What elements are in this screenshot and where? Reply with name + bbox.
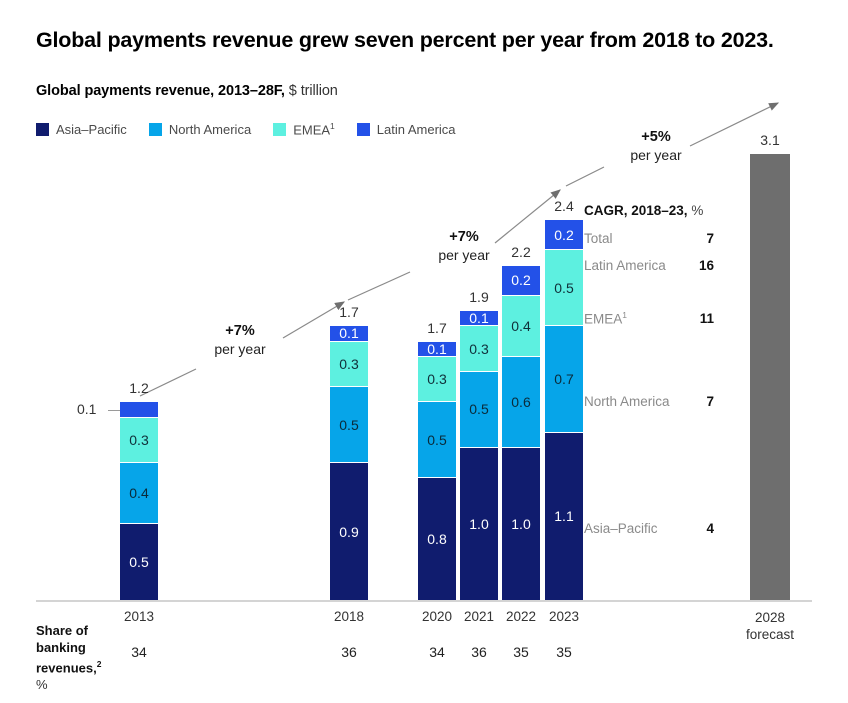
- x-axis-tick-2018: 2018: [314, 609, 384, 624]
- x-axis-tick-2028-qualifier: forecast: [735, 626, 805, 643]
- cagr-row-asia-pacific: Asia–Pacific4: [584, 521, 714, 536]
- bar-segment-value: 0.5: [339, 417, 358, 433]
- bar-segment-value: 0.1: [469, 310, 488, 326]
- bar-2018[interactable]: 0.10.30.50.9: [330, 326, 368, 600]
- share-of-banking-revenues-label: Share of banking revenues,2 %: [36, 623, 131, 693]
- bar-segment-value: 0.8: [427, 531, 446, 547]
- cagr-row-value: 16: [699, 258, 714, 273]
- bar-segment-value: 0.3: [339, 356, 358, 372]
- bar-segment-value: 0.5: [129, 554, 148, 570]
- bar-segment-2021-north-america[interactable]: 0.5: [460, 372, 498, 448]
- bar-segment-2018-north-america[interactable]: 0.5: [330, 387, 368, 463]
- growth-annotation-2: +7%per year: [420, 228, 508, 264]
- bar-2020[interactable]: 0.10.30.50.8: [418, 342, 456, 600]
- bar-2013[interactable]: 0.30.40.5: [120, 402, 158, 600]
- share-label-line2: banking: [36, 640, 86, 655]
- bar-segment-2013-emea[interactable]: 0.3: [120, 418, 158, 464]
- bar-segment-2013-asia-pacific[interactable]: 0.5: [120, 524, 158, 600]
- bar-outside-value-leader: [108, 410, 120, 411]
- cagr-row-label: EMEA1: [584, 310, 627, 327]
- bar-segment-value: 0.5: [554, 280, 573, 296]
- cagr-row-value: 7: [706, 394, 714, 409]
- growth-annotation-percent: +5%: [612, 128, 700, 146]
- bar-total-2021: 1.9: [449, 289, 509, 305]
- cagr-row-label: Total: [584, 231, 613, 246]
- share-value-545: 35: [529, 644, 599, 660]
- bar-total-2020: 1.7: [407, 320, 467, 336]
- cagr-header-unit: %: [688, 203, 704, 218]
- cagr-row-value: 11: [700, 311, 714, 326]
- cagr-row-north-america: North America7: [584, 394, 714, 409]
- bar-outside-value-2013: 0.1: [77, 401, 96, 417]
- bar-segment-value: 0.6: [511, 394, 530, 410]
- bar-segment-value: 0.3: [469, 341, 488, 357]
- cagr-row-value: 7: [706, 231, 714, 246]
- growth-annotation-period: per year: [420, 246, 508, 264]
- cagr-table-header: CAGR, 2018–23, %: [584, 203, 714, 218]
- bar-segment-value: 0.2: [554, 227, 573, 243]
- bar-segment-value: 0.7: [554, 371, 573, 387]
- share-value-330: 36: [314, 644, 384, 660]
- bar-segment-value: 0.9: [339, 524, 358, 540]
- bar-segment-value: 0.5: [427, 432, 446, 448]
- cagr-row-value: 4: [706, 521, 714, 536]
- bar-2023[interactable]: 0.20.50.71.1: [545, 220, 583, 600]
- bar-segment-2023-north-america[interactable]: 0.7: [545, 326, 583, 432]
- bar-segment-value: 1.0: [511, 516, 530, 532]
- bar-segment-2013-latin-america[interactable]: [120, 402, 158, 417]
- cagr-row-total: Total7: [584, 231, 714, 246]
- bar-segment-value: 0.4: [129, 485, 148, 501]
- bar-segment-2013-north-america[interactable]: 0.4: [120, 463, 158, 524]
- bar-segment-value: 1.1: [554, 508, 573, 524]
- bar-segment-2022-emea[interactable]: 0.4: [502, 296, 540, 357]
- bar-segment-value: 0.1: [339, 325, 358, 341]
- bar-segment-2020-emea[interactable]: 0.3: [418, 357, 456, 403]
- bar-segment-2021-latin-america[interactable]: 0.1: [460, 311, 498, 326]
- bar-segment-2018-emea[interactable]: 0.3: [330, 342, 368, 388]
- bar-2021[interactable]: 0.10.30.51.0: [460, 311, 498, 600]
- bar-segment-2020-north-america[interactable]: 0.5: [418, 402, 456, 478]
- cagr-header-label: CAGR, 2018–23,: [584, 203, 688, 218]
- cagr-table: CAGR, 2018–23, % Total7Latin America16EM…: [584, 203, 714, 218]
- cagr-row-label: Asia–Pacific: [584, 521, 658, 536]
- bar-segment-2021-emea[interactable]: 0.3: [460, 326, 498, 372]
- bar-segment-2022-asia-pacific[interactable]: 1.0: [502, 448, 540, 600]
- bar-segment-value: 1.0: [469, 516, 488, 532]
- bar-segment-2018-asia-pacific[interactable]: 0.9: [330, 463, 368, 600]
- growth-annotation-3: +5%per year: [612, 128, 700, 164]
- bar-total-2028: 3.1: [740, 132, 800, 148]
- growth-annotation-1: +7%per year: [196, 322, 284, 358]
- bar-segment-2023-asia-pacific[interactable]: 1.1: [545, 433, 583, 600]
- bar-2022[interactable]: 0.20.40.61.0: [502, 266, 540, 600]
- share-label-line3: revenues,: [36, 660, 97, 675]
- growth-annotation-percent: +7%: [420, 228, 508, 246]
- bar-total-2013: 1.2: [109, 380, 169, 396]
- x-axis-line: [36, 600, 812, 602]
- bar-segment-value: 0.1: [427, 341, 446, 357]
- bar-segment-2018-latin-america[interactable]: 0.1: [330, 326, 368, 341]
- bar-segment-2020-latin-america[interactable]: 0.1: [418, 342, 456, 357]
- bar-2028-forecast[interactable]: [750, 154, 790, 600]
- share-label-line1: Share of: [36, 623, 88, 638]
- bar-segment-value: 0.3: [129, 432, 148, 448]
- x-axis-tick-2028-year: 2028: [755, 610, 785, 625]
- bar-segment-value: 0.3: [427, 371, 446, 387]
- cagr-row-label: North America: [584, 394, 670, 409]
- share-label-unit: %: [36, 677, 48, 692]
- cagr-row-latin-america: Latin America16: [584, 258, 714, 273]
- bar-segment-2022-north-america[interactable]: 0.6: [502, 357, 540, 448]
- bar-segment-value: 0.2: [511, 272, 530, 288]
- growth-annotation-percent: +7%: [196, 322, 284, 340]
- cagr-row-label: Latin America: [584, 258, 666, 273]
- x-axis-tick-2023: 2023: [529, 609, 599, 624]
- x-axis-tick-2028-forecast: 2028forecast: [735, 609, 805, 643]
- bar-segment-2022-latin-america[interactable]: 0.2: [502, 266, 540, 296]
- cagr-footnote-marker: 1: [622, 310, 627, 320]
- bar-segment-2023-latin-america[interactable]: 0.2: [545, 220, 583, 250]
- growth-annotation-period: per year: [612, 146, 700, 164]
- chart-plot-area: 0.30.40.51.20.10.10.30.50.91.70.10.30.50…: [0, 0, 848, 703]
- bar-segment-value: 0.5: [469, 401, 488, 417]
- share-label-footnote-marker: 2: [97, 659, 102, 669]
- cagr-row-emea: EMEA111: [584, 310, 714, 327]
- bar-segment-value: 0.4: [511, 318, 530, 334]
- bar-segment-2021-asia-pacific[interactable]: 1.0: [460, 448, 498, 600]
- growth-annotation-period: per year: [196, 340, 284, 358]
- bar-segment-2020-asia-pacific[interactable]: 0.8: [418, 478, 456, 600]
- x-axis-tick-2013: 2013: [104, 609, 174, 624]
- bar-segment-2023-emea[interactable]: 0.5: [545, 250, 583, 326]
- bar-total-2018: 1.7: [319, 304, 379, 320]
